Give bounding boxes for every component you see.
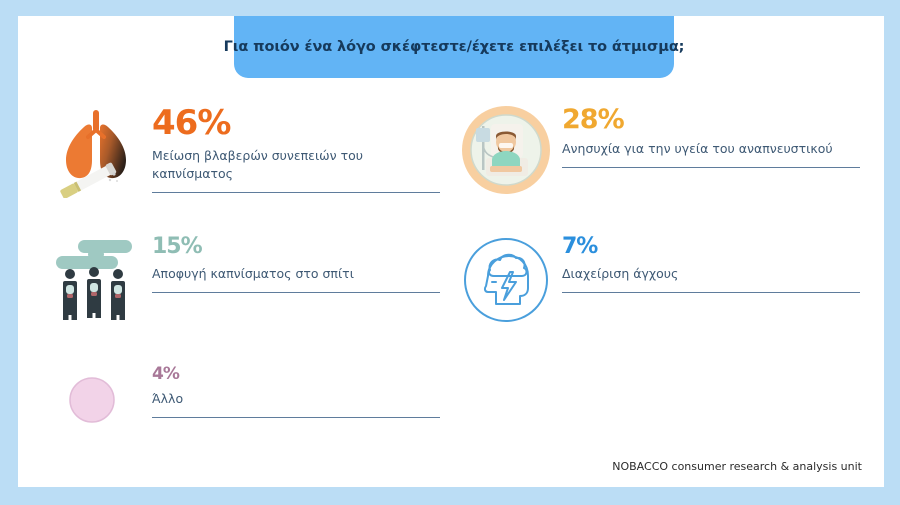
stat-item-stress-management: 7% Διαχείριση άγχους: [458, 232, 860, 328]
slide-canvas: Για ποιόν ένα λόγο σκέφτεστε/έχετε επιλέ…: [18, 16, 884, 487]
stat-item-harm-reduction: 46% Μείωση βλαβερών συνεπειών του καπνίσ…: [48, 102, 440, 198]
stat-value: 28%: [562, 106, 860, 133]
page-title: Για ποιόν ένα λόγο σκέφτεστε/έχετε επιλέ…: [224, 39, 685, 55]
stat-rule: [152, 292, 440, 293]
stat-value: 46%: [152, 106, 440, 140]
stat-body: 4% Άλλο: [144, 362, 440, 418]
stat-rule: [562, 167, 860, 168]
stat-body: 28% Ανησυχία για την υγεία του αναπνευστ…: [554, 102, 860, 168]
title-banner: Για ποιόν ένα λόγο σκέφτεστε/έχετε επιλέ…: [234, 16, 674, 78]
stat-label: Ανησυχία για την υγεία του αναπνευστικού: [562, 140, 860, 158]
stat-label: Διαχείριση άγχους: [562, 265, 860, 283]
stat-label: Μείωση βλαβερών συνεπειών του καπνίσματο…: [152, 147, 440, 183]
stats-grid: 46% Μείωση βλαβερών συνεπειών του καπνίσ…: [18, 102, 884, 487]
stat-label: Άλλο: [152, 390, 440, 408]
stat-value: 7%: [562, 236, 860, 258]
stat-row: 46% Μείωση βλαβερών συνεπειών του καπνίσ…: [18, 102, 884, 232]
stat-row: 15% Αποφυγή καπνίσματος στο σπίτι: [18, 232, 884, 362]
stat-rule: [562, 292, 860, 293]
stat-item-other: 4% Άλλο: [48, 362, 440, 458]
stat-value: 4%: [152, 366, 440, 383]
stat-body: 46% Μείωση βλαβερών συνεπειών του καπνίσ…: [144, 102, 440, 193]
stat-value: 15%: [152, 236, 440, 258]
pink-circle-icon: [48, 362, 144, 458]
slide-frame: Για ποιόν ένα λόγο σκέφτεστε/έχετε επιλέ…: [0, 0, 900, 505]
footer-credit: NOBACCO consumer research & analysis uni…: [612, 460, 862, 473]
hospital-patient-icon: [458, 102, 554, 198]
stat-body: 7% Διαχείριση άγχους: [554, 232, 860, 293]
stat-item-respiratory-concern: 28% Ανησυχία για την υγεία του αναπνευστ…: [458, 102, 860, 198]
lungs-cigarette-icon: [48, 102, 144, 198]
stat-rule: [152, 417, 440, 418]
stat-label: Αποφυγή καπνίσματος στο σπίτι: [152, 265, 440, 283]
people-smoke-icon: [48, 232, 144, 328]
stat-rule: [152, 192, 440, 193]
stat-item-home-smoking: 15% Αποφυγή καπνίσματος στο σπίτι: [48, 232, 440, 328]
stat-body: 15% Αποφυγή καπνίσματος στο σπίτι: [144, 232, 440, 293]
head-stress-icon: [458, 232, 554, 328]
